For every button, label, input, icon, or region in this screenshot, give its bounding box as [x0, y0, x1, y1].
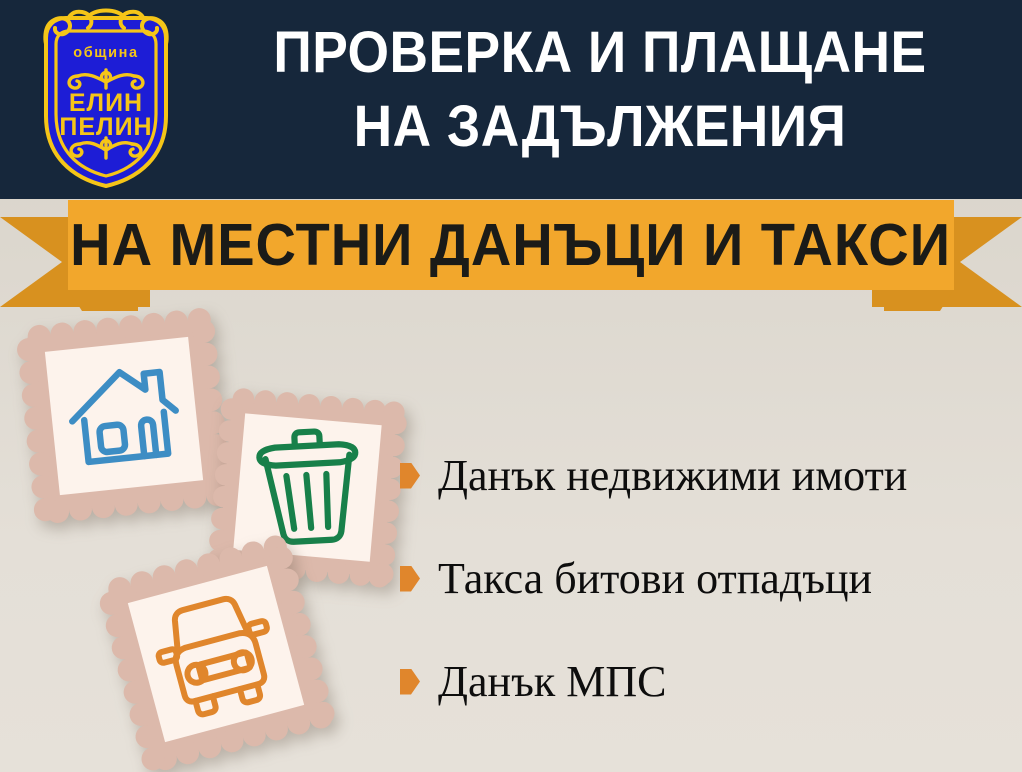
- bullet-arrow-icon: [400, 669, 420, 695]
- municipality-logo: община ЕЛИН ПЕЛИН: [22, 4, 190, 194]
- stamp-card-house: [14, 306, 234, 526]
- ribbon-banner: НА МЕСТНИ ДАНЪЦИ И ТАКСИ: [68, 200, 954, 290]
- list-item[interactable]: Данък МПС: [400, 630, 1010, 733]
- stamp-card-vehicle: [96, 534, 336, 772]
- ribbon-fold-right: [884, 289, 954, 311]
- coat-of-arms-icon: община ЕЛИН ПЕЛИН: [22, 4, 190, 194]
- logo-line-obshtina: община: [73, 45, 138, 61]
- poster-canvas: община ЕЛИН ПЕЛИН ПРОВЕРКА И ПЛАЩАНЕ НА …: [0, 0, 1022, 772]
- list-item-label: Данък недвижими имоти: [438, 451, 907, 501]
- stamp-paper: [45, 337, 203, 495]
- list-item[interactable]: Такса битови отпадъци: [400, 527, 1010, 630]
- title-line-1: ПРОВЕРКА И ПЛАЩАНЕ: [223, 16, 977, 90]
- list-item-label: Такса битови отпадъци: [438, 554, 872, 604]
- bullet-arrow-icon: [400, 566, 420, 592]
- bullet-arrow-icon: [400, 463, 420, 489]
- ribbon-fold-left: [68, 289, 138, 311]
- poster-title: ПРОВЕРКА И ПЛАЩАНЕ НА ЗАДЪЛЖЕНИЯ: [190, 16, 1010, 164]
- list-item-label: Данък МПС: [438, 657, 666, 707]
- title-line-2: НА ЗАДЪЛЖЕНИЯ: [223, 90, 977, 164]
- tax-type-list: Данък недвижими имоти Такса битови отпад…: [400, 424, 1010, 733]
- list-item[interactable]: Данък недвижими имоти: [400, 424, 1010, 527]
- subtitle-ribbon: НА МЕСТНИ ДАНЪЦИ И ТАКСИ: [0, 199, 1022, 314]
- logo-line-pelin: ПЕЛИН: [59, 113, 152, 141]
- ribbon-label: НА МЕСТНИ ДАНЪЦИ И ТАКСИ: [71, 214, 952, 276]
